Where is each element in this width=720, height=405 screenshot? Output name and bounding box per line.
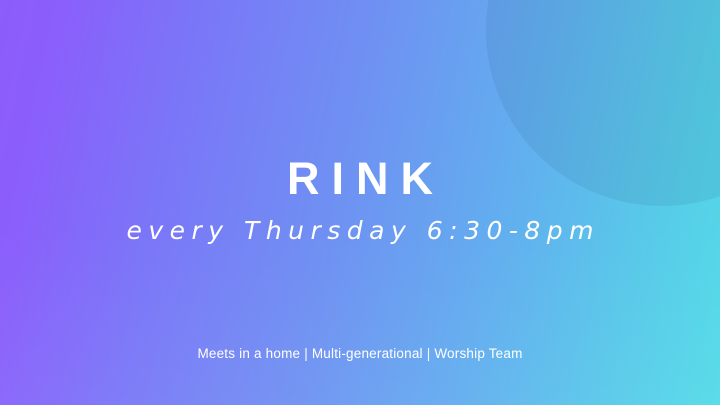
event-title: RINK [0, 154, 720, 204]
event-banner: RINK every Thursday 6:30-8pm Meets in a … [0, 0, 720, 405]
event-details: Meets in a home | Multi-generational | W… [0, 345, 720, 363]
banner-content: RINK every Thursday 6:30-8pm Meets in a … [0, 0, 720, 405]
event-schedule: every Thursday 6:30-8pm [0, 214, 720, 248]
